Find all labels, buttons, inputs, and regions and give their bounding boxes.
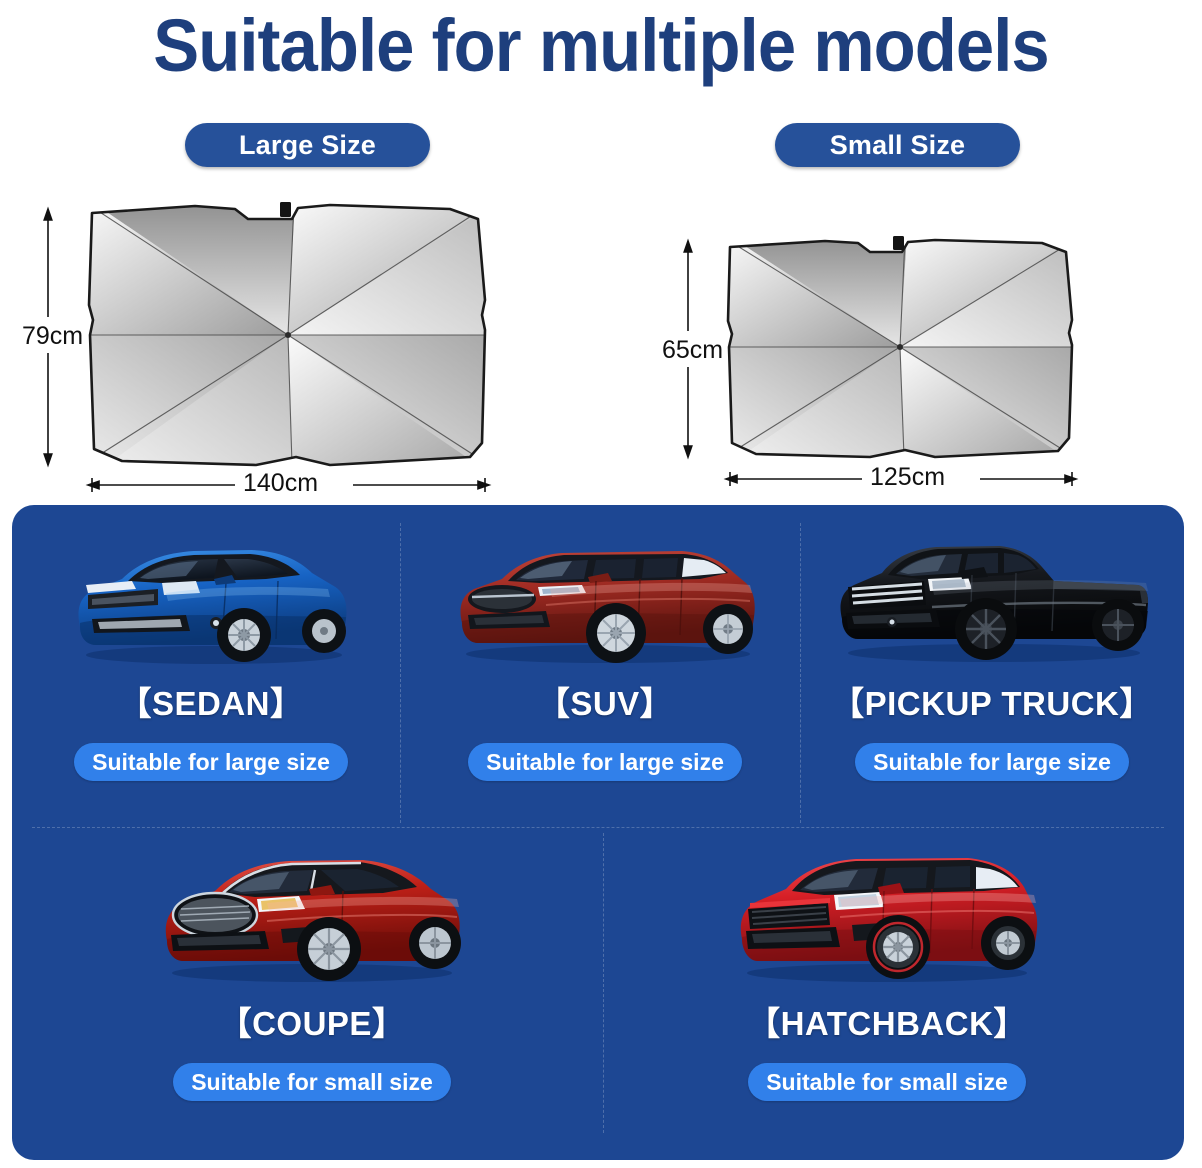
wheel-rear-icon	[1092, 599, 1144, 651]
cell-divider-horizontal	[32, 827, 1164, 828]
cell-divider-vertical	[800, 523, 801, 823]
hatchback-illustration	[732, 833, 1042, 993]
vehicle-cell-pickup-truck: 【PICKUP TRUCK】 Suitable for large size	[810, 523, 1174, 781]
sunshade-large-icon	[30, 195, 570, 495]
fit-badge-suv: Suitable for large size	[468, 743, 742, 781]
vehicle-label-pickup-truck: 【PICKUP TRUCK】	[831, 677, 1153, 725]
fit-badge-sedan: Suitable for large size	[74, 743, 348, 781]
pickup-truck-illustration	[832, 523, 1152, 673]
wheel-front-icon	[297, 917, 361, 981]
page-title: Suitable for multiple models	[42, 4, 1160, 88]
vehicle-label-hatchback: 【HATCHBACK】	[747, 997, 1027, 1045]
wheel-rear-icon	[981, 916, 1035, 970]
vehicle-label-sedan: 【SEDAN】	[118, 677, 303, 725]
wheel-front-icon	[217, 608, 271, 662]
vehicle-models-panel: 【SEDAN】 Suitable for large size	[12, 505, 1184, 1160]
suv-illustration	[450, 523, 760, 673]
size-badge-small: Small Size	[775, 123, 1020, 167]
pickup-truck-icon	[832, 523, 1152, 673]
sedan-illustration	[66, 523, 356, 673]
wheel-front-icon	[586, 603, 646, 663]
vehicle-label-coupe: 【COUPE】	[219, 997, 406, 1045]
vehicle-cell-sedan: 【SEDAN】 Suitable for large size	[22, 523, 400, 781]
hatchback-car-icon	[732, 833, 1042, 993]
fit-badge-pickup-truck: Suitable for large size	[855, 743, 1129, 781]
size-badge-large: Large Size	[185, 123, 430, 167]
height-label-small: 65cm	[662, 336, 723, 365]
vehicle-cell-suv: 【SUV】 Suitable for large size	[410, 523, 800, 781]
sunshade-handle-tab-icon	[280, 202, 291, 217]
wheel-rear-icon	[409, 917, 461, 969]
fit-badge-hatchback: Suitable for small size	[748, 1063, 1026, 1101]
suv-wagon-car-icon	[450, 523, 760, 673]
vehicle-cell-coupe: 【COUPE】 Suitable for small size	[117, 833, 507, 1101]
width-label-small: 125cm	[870, 463, 945, 492]
wheel-rear-icon	[302, 609, 346, 653]
coupe-illustration	[157, 833, 467, 993]
wheel-front-icon	[955, 598, 1017, 660]
vehicle-label-suv: 【SUV】	[537, 677, 673, 725]
wheel-front-icon	[866, 915, 930, 979]
coupe-car-icon	[157, 833, 467, 993]
width-label-large: 140cm	[243, 469, 318, 498]
cell-divider-vertical	[400, 523, 401, 823]
sunshade-diagram-large: 79cm 140cm	[30, 195, 570, 495]
height-label-large: 79cm	[22, 322, 83, 351]
cell-divider-vertical	[603, 833, 604, 1133]
sunshade-diagram-small: 65cm 125cm	[630, 195, 1170, 495]
sunshade-handle-tab-icon	[893, 236, 904, 250]
fit-badge-coupe: Suitable for small size	[173, 1063, 451, 1101]
wheel-rear-icon	[703, 604, 753, 654]
sedan-car-icon	[66, 523, 356, 673]
vehicle-cell-hatchback: 【HATCHBACK】 Suitable for small size	[687, 833, 1087, 1101]
